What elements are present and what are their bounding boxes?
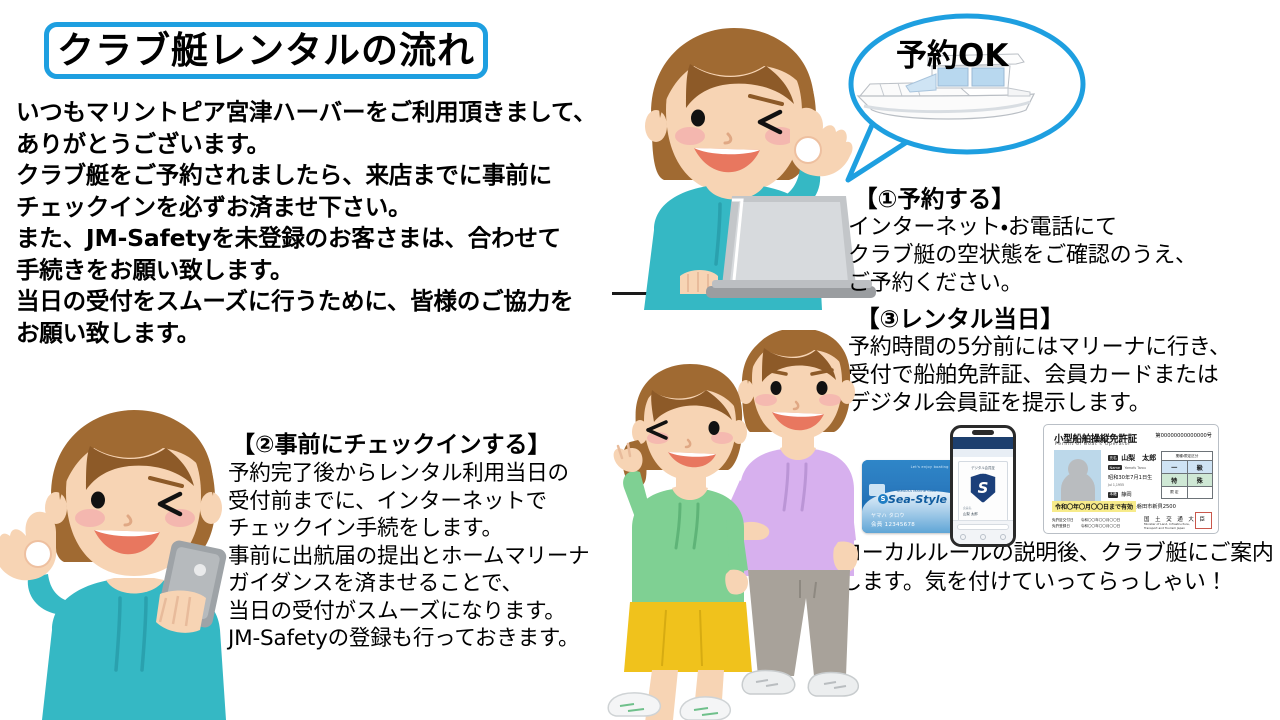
step-1-body: インターネット・お電話にて クラブ艇の空状態をご確認のうえ、 ご予約ください。	[848, 214, 1268, 298]
license-grade-row-1: 一 級	[1162, 461, 1212, 474]
license-photo-placeholder	[1054, 450, 1101, 506]
license-grade-header: 業種・限定区分	[1162, 452, 1212, 461]
sea-style-logo-icon: S	[878, 494, 888, 504]
card-brand: Sea-Style	[888, 493, 947, 506]
person-with-smartphone-illustration	[0, 398, 250, 720]
poster-root: クラブ艇レンタルの流れ いつもマリントピア宮津ハーバーをご利用頂きまして、 あり…	[0, 0, 1280, 720]
woman-figure	[608, 364, 752, 720]
license-field-name: 氏名 山梨 太郎	[1108, 453, 1156, 463]
license-field-name-en: Name Yamafu Tarou	[1108, 465, 1146, 470]
step-1-heading: 【①予約する】	[854, 184, 1268, 214]
step-3-note: ローカルルールの説明後、クラブ艇にご案内 します。気を付けていってらっしゃい！	[840, 539, 1280, 597]
license-official-seal-icon	[1195, 512, 1212, 529]
phone-nav-home	[980, 534, 986, 540]
bubble-text: 予約OK	[896, 30, 1008, 75]
digital-card-name-label: 会員名	[963, 506, 971, 510]
phone-nav-back	[960, 534, 966, 540]
license-field-registry: 本籍 静岡	[1108, 491, 1132, 498]
smartphone-digital-member-card: デジタル会員証 S 会員名 山梨 太郎	[950, 425, 1016, 547]
license-issue-dates: 免許証交付日 令和〇〇年〇〇月〇〇日 免許登録日 令和〇〇年〇〇月〇〇日	[1052, 517, 1120, 529]
license-subtitle: Permit of Boat's Operator	[1055, 442, 1131, 447]
license-ministry-en: Minister of Land, Infrastructure, Transp…	[1144, 522, 1190, 530]
page-title-box: クラブ艇レンタルの流れ	[44, 22, 488, 79]
phone-url-bar	[957, 524, 1009, 530]
intro-paragraph: いつもマリントピア宮津ハーバーをご利用頂きまして、 ありがとうございます。 クラ…	[16, 97, 626, 349]
card-holder-name: ヤマハ タロウ	[871, 512, 905, 519]
boat-operator-license-card: 小型船舶操縦免許証 Permit of Boat's Operator 第000…	[1043, 424, 1219, 534]
page-title: クラブ艇レンタルの流れ	[57, 32, 475, 69]
step-2-body: 予約完了後からレンタル利用当日の 受付前までに、インターネットで チェックイン手…	[228, 460, 628, 653]
digital-card-name: 山梨 太郎	[963, 511, 978, 516]
license-grade-row-3: 限 定	[1162, 487, 1212, 498]
license-field-birth: 昭和30年7月1日生	[1108, 474, 1152, 481]
phone-notch	[972, 430, 994, 435]
license-number: 第00000000000000号	[1155, 432, 1212, 439]
step-3-heading: 【③レンタル当日】	[856, 304, 1278, 334]
phone-sub-bar	[953, 449, 1013, 457]
phone-nav-buttons	[953, 534, 1013, 540]
step-3-body: 予約時間の5分前にはマリーナに行き、 受付で船舶免許証、会員カードまたは デジタ…	[848, 334, 1278, 418]
couple-illustration	[600, 330, 862, 720]
phone-nav-tabs	[1000, 534, 1006, 540]
phone-app-bar	[953, 437, 1013, 449]
license-grade-row-2: 特 殊	[1162, 474, 1212, 487]
shield-logo-icon: S	[970, 473, 996, 503]
step-2-block: 【②事前にチェックインする】 予約完了後からレンタル利用当日の 受付前までに、イ…	[228, 430, 628, 653]
phone-browser-bar	[953, 520, 1013, 544]
step-2-heading: 【②事前にチェックインする】	[232, 430, 628, 460]
digital-card-title: デジタル会員証	[971, 465, 995, 470]
license-field-birth-en: Jul 1,1955	[1108, 483, 1124, 487]
step-1-block: 【①予約する】 インターネット・お電話にて クラブ艇の空状態をご確認のうえ、 ご…	[848, 184, 1268, 298]
digital-member-card: デジタル会員証 S 会員名 山梨 太郎	[958, 461, 1008, 523]
card-number: 会員 12345678	[871, 520, 915, 528]
license-validity: 令和〇年〇月〇〇日まで有効	[1052, 501, 1136, 512]
step-3-block: 【③レンタル当日】 予約時間の5分前にはマリーナに行き、 受付で船舶免許証、会員…	[848, 304, 1278, 418]
license-grade-box: 業種・限定区分 一 級 特 殊 限 定	[1161, 451, 1213, 499]
speech-bubble: 予約OK	[840, 8, 1090, 183]
